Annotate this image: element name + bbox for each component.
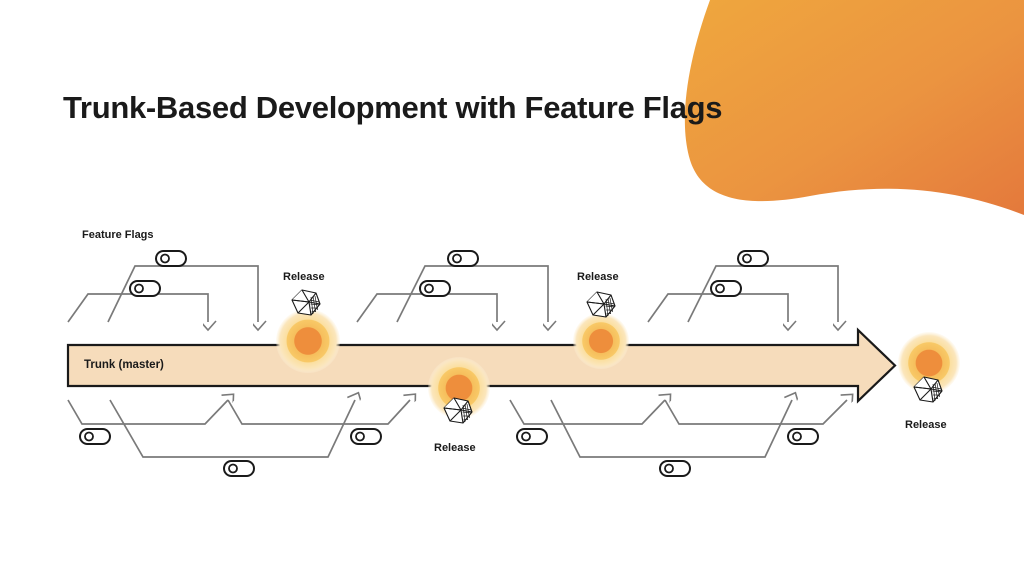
feature-flag-toggle[interactable]: [788, 429, 818, 444]
feature-flag-toggle[interactable]: [448, 251, 478, 266]
feature-flag-toggle[interactable]: [738, 251, 768, 266]
release-glow: [573, 313, 629, 369]
top-branch-group-2: [357, 266, 548, 322]
release-label-2: Release: [434, 442, 476, 454]
polyhedron-release-icon: [587, 292, 615, 317]
branch-line-short-2: [228, 400, 410, 424]
release-marker-4[interactable]: [898, 332, 960, 402]
branch-line-short: [357, 294, 497, 322]
feature-flags-label: Feature Flags: [82, 229, 154, 241]
feature-flag-toggle[interactable]: [351, 429, 381, 444]
top-branch-group-1: [68, 266, 258, 322]
branch-line-short: [510, 400, 665, 424]
feature-flag-toggle[interactable]: [517, 429, 547, 444]
branch-line-long: [551, 400, 792, 457]
slide-canvas: Trunk-Based Development with Feature Fla…: [0, 0, 1024, 571]
feature-flag-toggle[interactable]: [660, 461, 690, 476]
feature-flag-toggle[interactable]: [420, 281, 450, 296]
branch-line-short: [648, 294, 788, 322]
branch-line-short-2: [665, 400, 847, 424]
release-marker-2[interactable]: [428, 357, 490, 423]
release-marker-3[interactable]: [573, 292, 629, 369]
release-label-4: Release: [905, 419, 947, 431]
polyhedron-release-icon: [292, 290, 320, 315]
feature-flag-toggle[interactable]: [224, 461, 254, 476]
release-marker-1[interactable]: [276, 290, 340, 373]
release-label-1: Release: [283, 271, 325, 283]
trunk-label: Trunk (master): [84, 359, 164, 371]
branch-line-short: [68, 400, 228, 424]
top-branch-group-3: [648, 266, 838, 322]
feature-flag-toggle[interactable]: [80, 429, 110, 444]
release-label-3: Release: [577, 271, 619, 283]
trunk-based-development-diagram: [0, 0, 1024, 571]
release-glow: [276, 309, 340, 373]
feature-flag-toggle[interactable]: [130, 281, 160, 296]
branch-line-short: [68, 294, 208, 322]
feature-flag-toggle[interactable]: [156, 251, 186, 266]
feature-flag-toggle[interactable]: [711, 281, 741, 296]
